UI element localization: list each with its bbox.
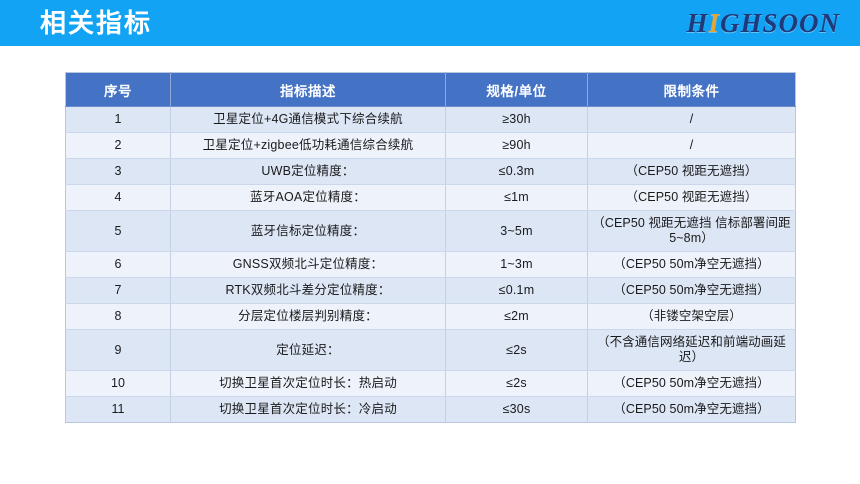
- cell-desc: RTK双频北斗差分定位精度：: [171, 278, 446, 304]
- cell-no: 5: [66, 211, 171, 252]
- cell-cond: （CEP50 50m净空无遮挡）: [588, 371, 796, 397]
- cell-spec: ≤2s: [446, 371, 588, 397]
- table-header: 序号 指标描述 规格/单位 限制条件: [66, 73, 796, 107]
- table-row: 6GNSS双频北斗定位精度：1~3m（CEP50 50m净空无遮挡）: [66, 252, 796, 278]
- cell-no: 7: [66, 278, 171, 304]
- cell-spec: ≤2s: [446, 330, 588, 371]
- header-banner: 相关指标 HIGHSOON: [0, 0, 860, 46]
- cell-no: 9: [66, 330, 171, 371]
- cell-no: 6: [66, 252, 171, 278]
- cell-spec: 3~5m: [446, 211, 588, 252]
- table-row: 3UWB定位精度：≤0.3m（CEP50 视距无遮挡）: [66, 159, 796, 185]
- table-row: 4蓝牙AOA定位精度：≤1m（CEP50 视距无遮挡）: [66, 185, 796, 211]
- cell-no: 2: [66, 133, 171, 159]
- cell-cond: （CEP50 50m净空无遮挡）: [588, 252, 796, 278]
- cell-desc: 分层定位楼层判别精度：: [171, 304, 446, 330]
- cell-no: 11: [66, 397, 171, 423]
- cell-cond: （CEP50 50m净空无遮挡）: [588, 278, 796, 304]
- cell-spec: ≤30s: [446, 397, 588, 423]
- column-header-no: 序号: [66, 73, 171, 107]
- table-row: 11切换卫星首次定位时长：冷启动≤30s（CEP50 50m净空无遮挡）: [66, 397, 796, 423]
- table-row: 1卫星定位+4G通信模式下综合续航≥30h/: [66, 107, 796, 133]
- cell-desc: 定位延迟：: [171, 330, 446, 371]
- cell-cond: （非镂空架空层）: [588, 304, 796, 330]
- cell-desc: 切换卫星首次定位时长：冷启动: [171, 397, 446, 423]
- cell-spec: ≤0.3m: [446, 159, 588, 185]
- table-row: 8分层定位楼层判别精度：≤2m（非镂空架空层）: [66, 304, 796, 330]
- cell-no: 3: [66, 159, 171, 185]
- cell-cond: （CEP50 视距无遮挡）: [588, 185, 796, 211]
- cell-desc: UWB定位精度：: [171, 159, 446, 185]
- slide: 相关指标 HIGHSOON 序号 指标描述 规格/单位 限制条件 1卫星定位+4…: [0, 0, 860, 484]
- cell-desc: 切换卫星首次定位时长：热启动: [171, 371, 446, 397]
- table-header-row: 序号 指标描述 规格/单位 限制条件: [66, 73, 796, 107]
- cell-spec: ≤1m: [446, 185, 588, 211]
- cell-spec: ≤0.1m: [446, 278, 588, 304]
- cell-cond: （CEP50 50m净空无遮挡）: [588, 397, 796, 423]
- table-row: 9定位延迟：≤2s（不含通信网络延迟和前端动画延迟）: [66, 330, 796, 371]
- logo-part-1: H: [686, 9, 708, 37]
- spec-table-container: 序号 指标描述 规格/单位 限制条件 1卫星定位+4G通信模式下综合续航≥30h…: [65, 72, 795, 423]
- page-title: 相关指标: [40, 8, 152, 38]
- cell-spec: 1~3m: [446, 252, 588, 278]
- table-row: 5蓝牙信标定位精度：3~5m（CEP50 视距无遮挡 信标部署间距5~8m）: [66, 211, 796, 252]
- logo-part-accent: I: [708, 9, 720, 37]
- cell-cond: （CEP50 视距无遮挡 信标部署间距5~8m）: [588, 211, 796, 252]
- cell-cond: /: [588, 107, 796, 133]
- cell-spec: ≤2m: [446, 304, 588, 330]
- table-row: 2卫星定位+zigbee低功耗通信综合续航≥90h/: [66, 133, 796, 159]
- cell-desc: 蓝牙信标定位精度：: [171, 211, 446, 252]
- cell-desc: 卫星定位+zigbee低功耗通信综合续航: [171, 133, 446, 159]
- table-row: 10切换卫星首次定位时长：热启动≤2s（CEP50 50m净空无遮挡）: [66, 371, 796, 397]
- cell-no: 10: [66, 371, 171, 397]
- cell-spec: ≥90h: [446, 133, 588, 159]
- cell-desc: 卫星定位+4G通信模式下综合续航: [171, 107, 446, 133]
- cell-no: 8: [66, 304, 171, 330]
- cell-spec: ≥30h: [446, 107, 588, 133]
- column-header-cond: 限制条件: [588, 73, 796, 107]
- table-body: 1卫星定位+4G通信模式下综合续航≥30h/2卫星定位+zigbee低功耗通信综…: [66, 107, 796, 423]
- cell-no: 4: [66, 185, 171, 211]
- cell-cond: （CEP50 视距无遮挡）: [588, 159, 796, 185]
- cell-cond: （不含通信网络延迟和前端动画延迟）: [588, 330, 796, 371]
- cell-desc: 蓝牙AOA定位精度：: [171, 185, 446, 211]
- column-header-spec: 规格/单位: [446, 73, 588, 107]
- cell-no: 1: [66, 107, 171, 133]
- company-logo: HIGHSOON: [686, 9, 840, 37]
- cell-cond: /: [588, 133, 796, 159]
- logo-part-2: GHSOON: [720, 9, 840, 37]
- column-header-desc: 指标描述: [171, 73, 446, 107]
- spec-table: 序号 指标描述 规格/单位 限制条件 1卫星定位+4G通信模式下综合续航≥30h…: [65, 72, 796, 423]
- table-row: 7RTK双频北斗差分定位精度：≤0.1m（CEP50 50m净空无遮挡）: [66, 278, 796, 304]
- cell-desc: GNSS双频北斗定位精度：: [171, 252, 446, 278]
